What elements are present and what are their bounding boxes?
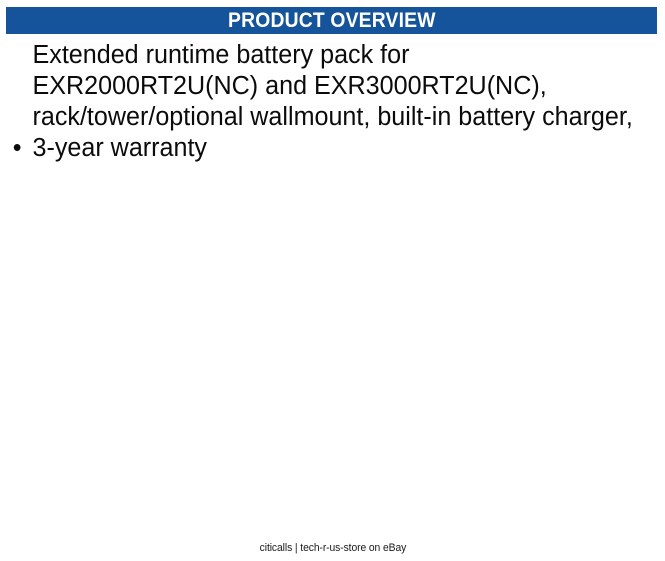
overview-line-text: rack/tower/optional wallmount, built-in …	[33, 103, 633, 131]
overview-line: • 3-year warranty	[0, 133, 655, 164]
page-title: PRODUCT OVERVIEW	[228, 10, 436, 31]
footer: citicalls | tech-r-us-store on eBay	[0, 538, 665, 556]
bullet-icon: •	[13, 133, 27, 164]
overview-line-text: Extended runtime battery pack for	[33, 41, 410, 69]
footer-attribution: citicalls | tech-r-us-store on eBay	[259, 541, 406, 555]
overview-line: • EXR2000RT2U(NC) and EXR3000RT2U(NC),	[0, 71, 655, 102]
product-overview-page: PRODUCT OVERVIEW • Extended runtime batt…	[0, 0, 665, 561]
product-overview-body: • Extended runtime battery pack for • EX…	[0, 40, 665, 164]
overview-line: • Extended runtime battery pack for	[0, 40, 655, 71]
overview-line: • rack/tower/optional wallmount, built-i…	[0, 102, 655, 133]
overview-line-text: EXR2000RT2U(NC) and EXR3000RT2U(NC),	[33, 72, 547, 100]
product-overview-banner: PRODUCT OVERVIEW	[6, 7, 657, 34]
overview-line-text: 3-year warranty	[33, 134, 207, 162]
